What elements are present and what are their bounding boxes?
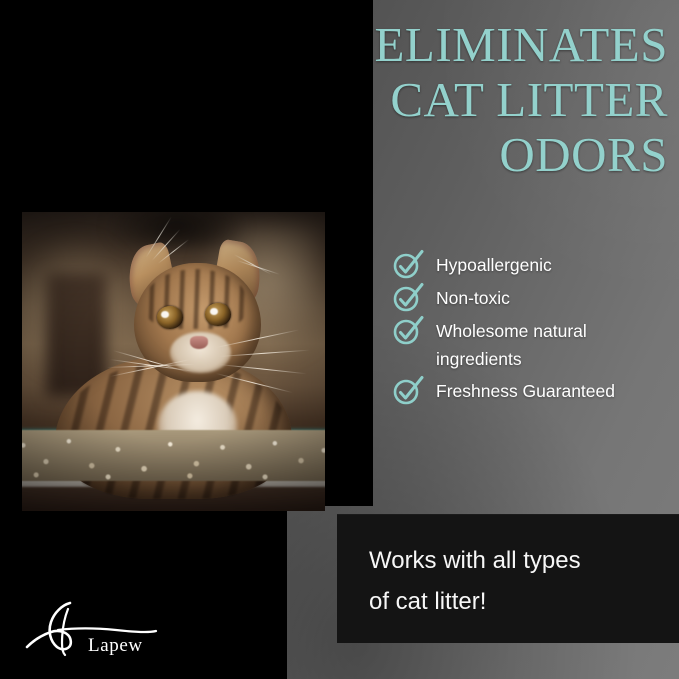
list-item-label: Non-toxic bbox=[436, 283, 677, 312]
check-circle-icon bbox=[392, 283, 436, 314]
callout-line-1: Works with all types bbox=[369, 540, 679, 581]
list-item: Wholesome natural ingredients bbox=[392, 316, 677, 374]
callout-line-2: of cat litter! bbox=[369, 581, 679, 622]
list-item-label: Freshness Guaranteed bbox=[436, 376, 677, 405]
feature-list: Hypoallergenic Non-toxic W bbox=[392, 250, 677, 409]
kitten-eye-glint-right bbox=[210, 308, 218, 315]
list-item-label: Wholesome natural ingredients bbox=[436, 316, 677, 374]
headline-line-1: ELIMINATES bbox=[300, 18, 668, 73]
callout-box: Works with all types of cat litter! bbox=[337, 514, 679, 643]
check-circle-icon bbox=[392, 316, 436, 347]
kitten-eye-right bbox=[205, 303, 231, 325]
brand-wordmark: Lapew bbox=[88, 635, 143, 657]
product-feature-poster: ELIMINATES CAT LITTER ODORS bbox=[0, 0, 679, 679]
brand-logo: Lapew bbox=[24, 597, 184, 665]
list-item: Freshness Guaranteed bbox=[392, 376, 677, 407]
callout-text: Works with all types of cat litter! bbox=[369, 540, 679, 623]
list-item: Non-toxic bbox=[392, 283, 677, 314]
kitten-eye-glint-left bbox=[161, 311, 169, 318]
kitten-eye-left bbox=[157, 306, 183, 328]
kitten-in-litter-box-photo bbox=[22, 212, 325, 511]
headline-line-2: CAT LITTER bbox=[300, 73, 668, 128]
page-title: ELIMINATES CAT LITTER ODORS bbox=[300, 18, 668, 183]
headline-line-3: ODORS bbox=[300, 128, 668, 183]
list-item: Hypoallergenic bbox=[392, 250, 677, 281]
list-item-label: Hypoallergenic bbox=[436, 250, 677, 279]
check-circle-icon bbox=[392, 250, 436, 281]
check-circle-icon bbox=[392, 376, 436, 407]
litter-granules bbox=[22, 430, 325, 481]
